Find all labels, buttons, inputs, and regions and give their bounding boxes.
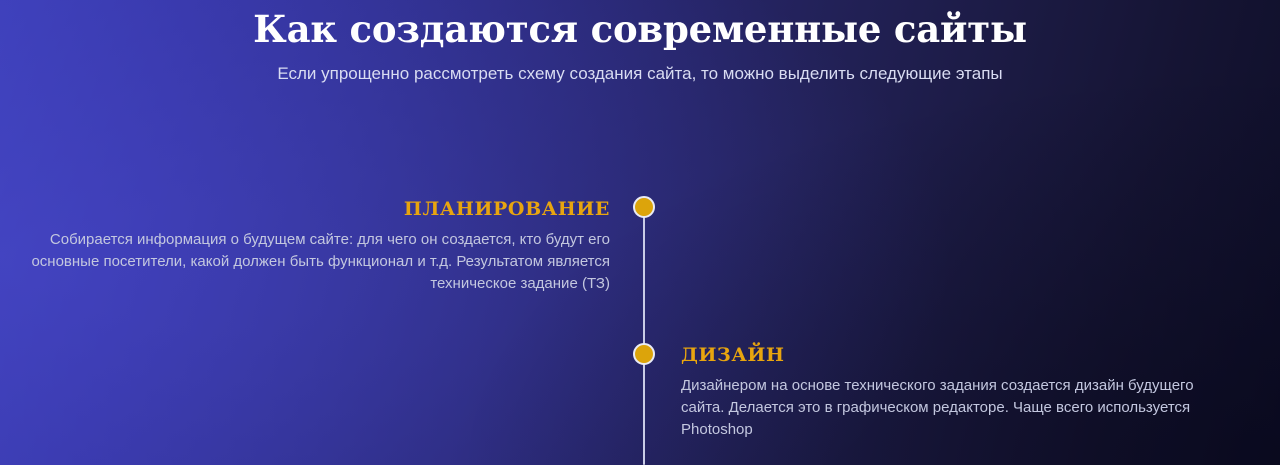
slide-header: Как создаются современные сайты Если упр… [0, 0, 1280, 86]
timeline-dot-icon-planning [633, 196, 655, 218]
timeline-item-heading: ПЛАНИРОВАНИЕ [22, 198, 610, 220]
timeline-dot-icon-design [633, 343, 655, 365]
timeline-item-body: Собирается информация о будущем сайте: д… [22, 229, 610, 295]
timeline-item-design: ДИЗАЙН Дизайнером на основе технического… [681, 344, 1241, 441]
timeline-spine [643, 206, 645, 465]
timeline-item-body: Дизайнером на основе технического задани… [681, 375, 1241, 441]
timeline-item-heading: ДИЗАЙН [681, 344, 1241, 366]
page-subtitle: Если упрощенно рассмотреть схему создани… [270, 61, 1010, 86]
timeline-item-planning: ПЛАНИРОВАНИЕ Собирается информация о буд… [22, 198, 610, 295]
slide-canvas: Как создаются современные сайты Если упр… [0, 0, 1280, 465]
page-title: Как создаются современные сайты [0, 0, 1280, 52]
